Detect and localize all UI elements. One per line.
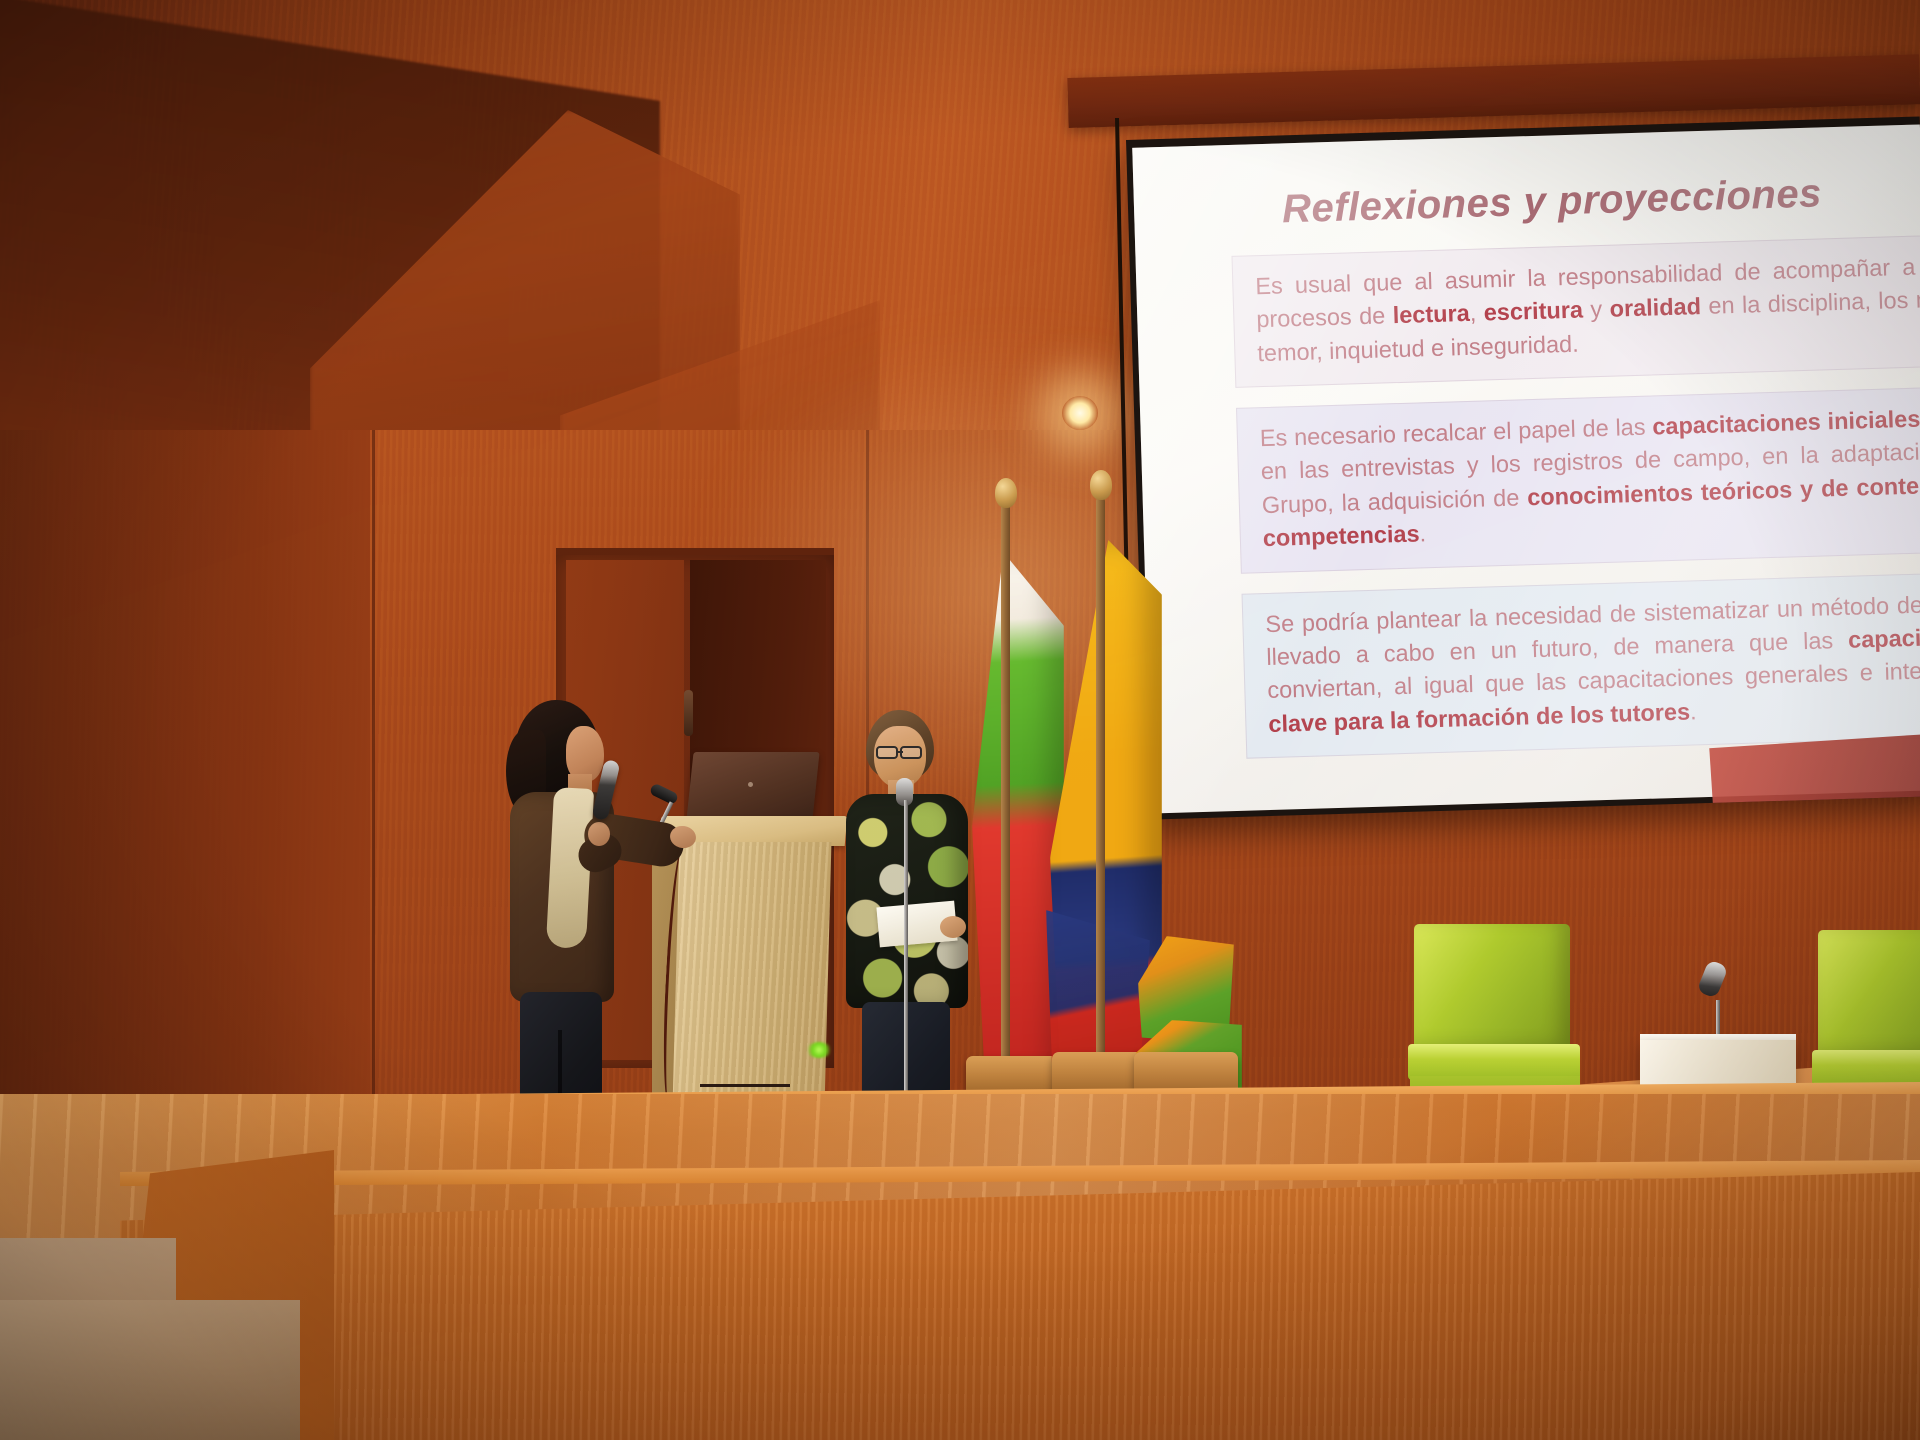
flagpole [1096,498,1105,1074]
projection-screen-surface: Reflexiones y proyecciones Es usual que … [1132,124,1920,813]
slide-text: Es necesario recalcar el papel de las [1260,414,1653,452]
eyeglasses-bridge [897,751,903,753]
laptop[interactable] [686,752,819,820]
chair-backrest [1818,930,1920,1058]
microphone-stand [904,800,908,1130]
slide-emphasis: lectura [1392,300,1470,328]
flagpole-finial-icon [995,478,1017,508]
slide-text: Se podría plantear la necesidad de siste… [1265,584,1920,670]
slide-emphasis: oralidad [1609,293,1701,322]
ceiling-light-icon [1062,396,1098,430]
slide-emphasis: competencias [1262,521,1419,552]
chair-seat [1408,1044,1580,1080]
chair-seat [1812,1050,1920,1086]
flagpole [1001,505,1010,1065]
slide-text-block: Es usual que al asumir la responsabilida… [1231,228,1920,388]
slide-text: , [1469,300,1484,326]
laptop-logo-icon [748,782,753,787]
slide-text: y [1583,296,1610,323]
wall-panel-left [0,430,370,1190]
room-floor [0,1300,300,1440]
eyeglasses-icon [900,746,922,759]
speaker-hand [940,916,966,938]
slide-emphasis: capacitaciones iniciales [1848,618,1920,652]
chair-backrest [1414,924,1570,1052]
slide-text-block: Se podría plantear la necesidad de siste… [1241,565,1920,758]
slide-emphasis: conocimientos teóricos y de contenido [1527,471,1920,510]
slide-emphasis: capacitaciones iniciales [1652,406,1920,440]
presentation-slide: Reflexiones y proyecciones Es usual que … [1132,124,1920,813]
podium-grain [673,842,832,1106]
slide-title: Reflexiones y proyecciones [1281,168,1920,232]
slide-text: . [1419,520,1426,546]
flagpole-finial-icon [1090,470,1112,500]
auditorium-presentation-photo: Reflexiones y proyecciones Es usual que … [0,0,1920,1440]
slide-emphasis: escritura [1483,297,1583,326]
slide-text: . [1690,698,1697,724]
stage-edge-light-icon [806,1042,832,1058]
eyeglasses-icon [876,746,898,759]
wall-seam [372,430,375,1190]
slide-text-block: Es necesario recalcar el papel de las ca… [1236,380,1920,573]
door-handle[interactable] [684,690,693,736]
projection-screen: Reflexiones y proyecciones Es usual que … [1126,116,1920,819]
speaker-hand [588,822,610,846]
